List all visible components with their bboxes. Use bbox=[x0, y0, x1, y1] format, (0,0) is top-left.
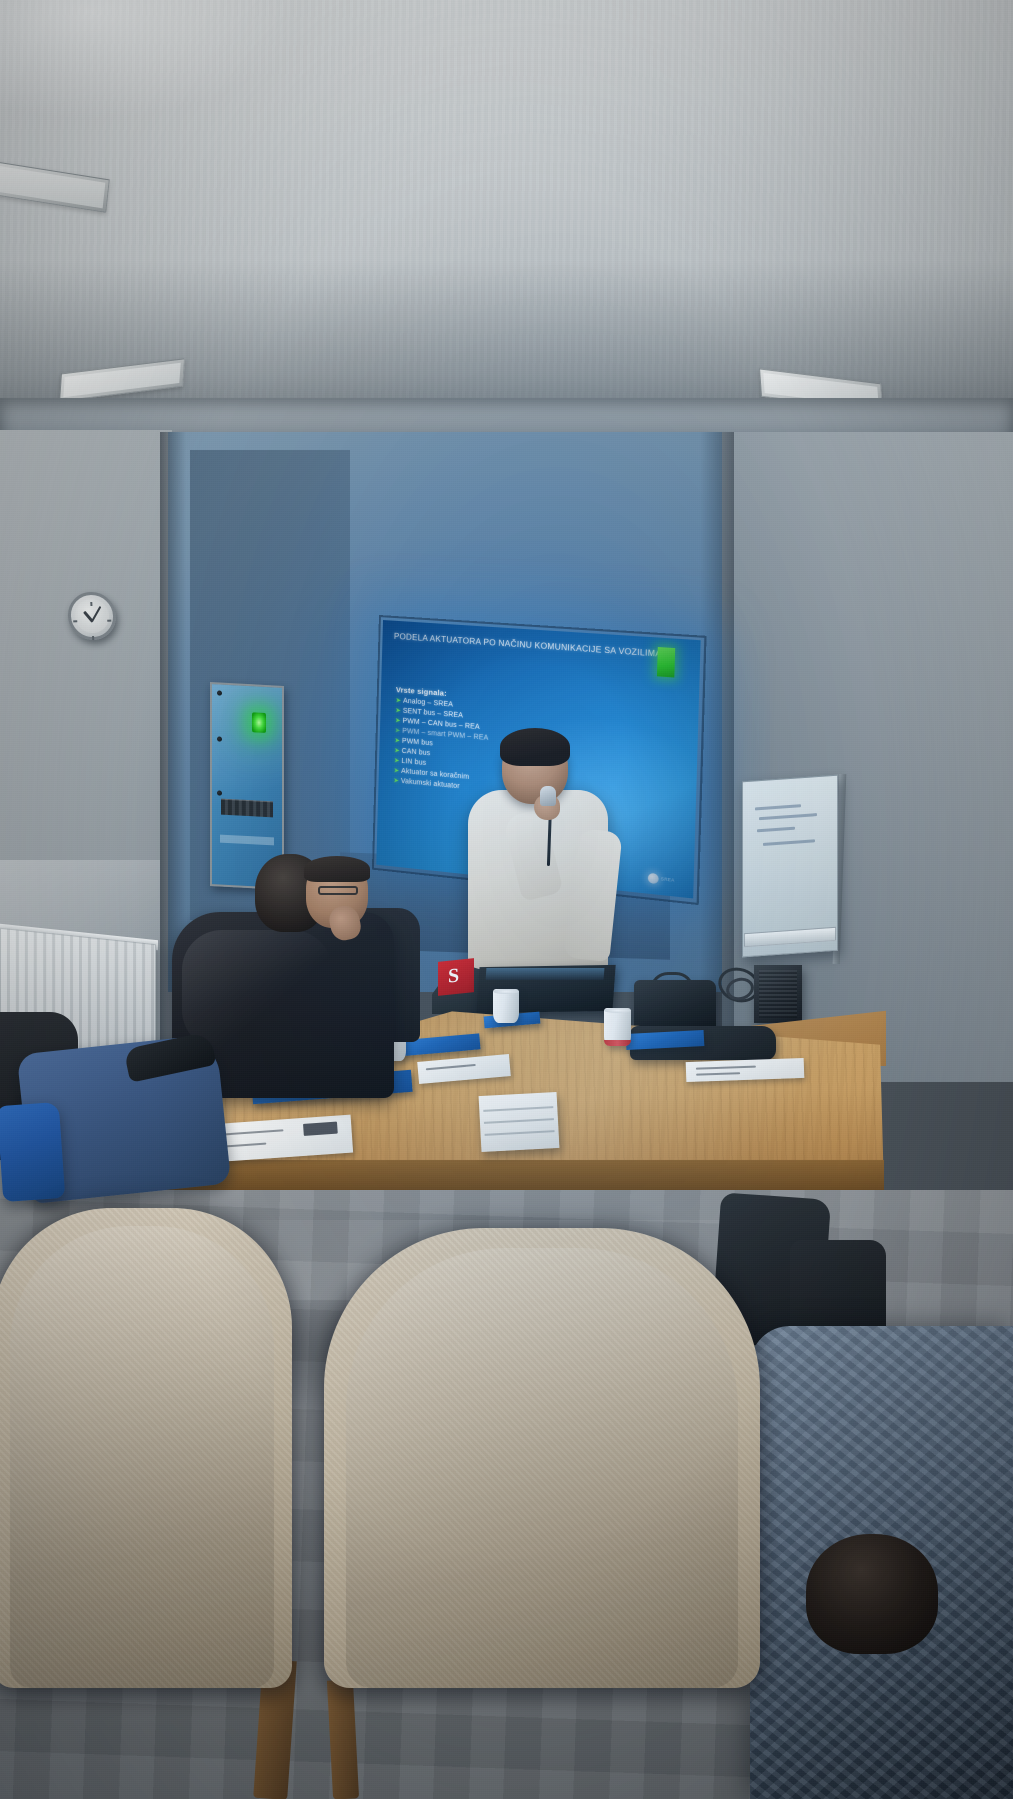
panel-screw bbox=[217, 790, 222, 795]
paper-text-line bbox=[696, 1072, 740, 1076]
flipchart-writing bbox=[757, 827, 795, 833]
paper-sheet bbox=[686, 1058, 805, 1082]
napkin-edge bbox=[485, 1130, 555, 1136]
panel-screw bbox=[217, 736, 222, 741]
flipchart-writing bbox=[763, 839, 815, 846]
coffee-cup bbox=[604, 1008, 631, 1046]
beige-armchair bbox=[324, 1228, 760, 1688]
flipchart-writing bbox=[759, 813, 817, 820]
napkin-edge bbox=[484, 1118, 554, 1124]
room-photo-scene: PODELA AKTUATORA PO NAČINU KOMUNIKACIJE … bbox=[0, 0, 1013, 1799]
handbag bbox=[634, 980, 716, 1030]
clock-tick bbox=[90, 602, 92, 606]
attendee-glasses-hair bbox=[304, 856, 370, 882]
cup-band bbox=[604, 1040, 631, 1046]
clock-face bbox=[74, 599, 110, 634]
panel-screw bbox=[217, 690, 222, 695]
paper-text-line bbox=[426, 1064, 476, 1070]
flipchart-writing bbox=[755, 804, 801, 810]
clock-tick bbox=[107, 620, 111, 622]
blue-office-chair bbox=[0, 1102, 65, 1202]
clock-tick bbox=[73, 620, 77, 622]
leather-jacket-highlight bbox=[182, 930, 332, 1050]
clock-minute-hand bbox=[91, 606, 101, 622]
circuit-breakers[interactable] bbox=[221, 799, 273, 818]
red-logo-letter: S bbox=[448, 964, 459, 988]
napkin-stack bbox=[479, 1092, 560, 1152]
laptop-screen-glow bbox=[486, 968, 605, 980]
coffee-cup bbox=[493, 989, 519, 1023]
napkin-edge bbox=[483, 1106, 553, 1112]
clock-tick bbox=[92, 636, 94, 640]
beige-armchair bbox=[0, 1208, 292, 1688]
corner-shadow-right bbox=[700, 432, 734, 1052]
armchair-cushion bbox=[10, 1226, 274, 1688]
speaker-grille bbox=[759, 970, 797, 1018]
microphone-icon bbox=[540, 786, 556, 806]
foreground-person-head bbox=[806, 1534, 938, 1654]
paper-photo-block bbox=[303, 1122, 338, 1136]
paper-text-line bbox=[696, 1066, 756, 1070]
eyeglasses-icon bbox=[318, 886, 358, 895]
armchair-cushion bbox=[346, 1248, 738, 1688]
presenter-hair bbox=[500, 728, 570, 766]
status-led-icon bbox=[252, 712, 266, 733]
portable-speaker bbox=[754, 965, 802, 1023]
